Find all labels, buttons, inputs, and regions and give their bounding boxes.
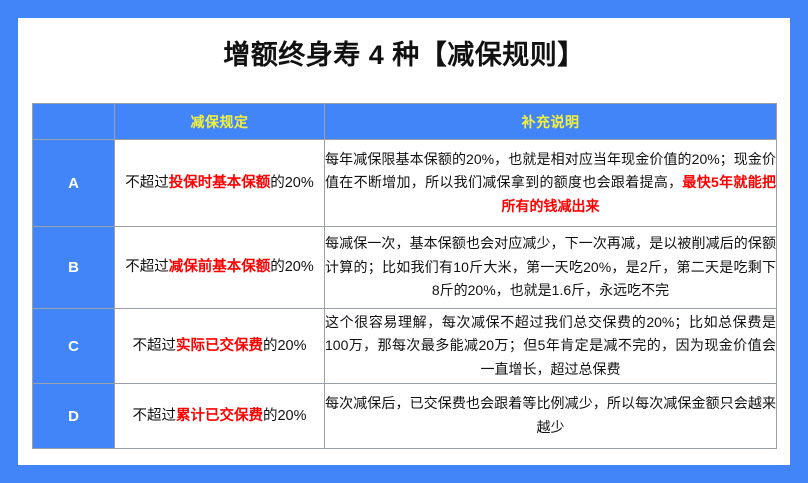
row-note-d: 每次减保后，已交保费也会跟着等比例减少，所以每次减保金额只会越来越少 bbox=[325, 384, 777, 449]
row-note-c: 这个很容易理解，每次减保不超过我们总交保费的20%；比如总保费是100万，那每次… bbox=[325, 309, 777, 384]
rule-highlight: 累计已交保费 bbox=[176, 408, 263, 424]
header-rule: 减保规定 bbox=[115, 104, 325, 140]
table-row: D 不超过累计已交保费的20% 每次减保后，已交保费也会跟着等比例减少，所以每次… bbox=[33, 384, 777, 449]
rule-highlight: 投保时基本保额 bbox=[169, 175, 271, 191]
header-letter bbox=[33, 104, 115, 140]
page-title: 增额终身寿 4 种【减保规则】 bbox=[18, 18, 790, 71]
rule-suffix: 的20% bbox=[263, 408, 307, 424]
reduction-rules-table: 减保规定 补充说明 A 不超过投保时基本保额的20% 每年减保限基本保额的20%… bbox=[32, 103, 777, 449]
row-rule-a: 不超过投保时基本保额的20% bbox=[115, 140, 325, 227]
row-note-a: 每年减保限基本保额的20%，也就是相对应当年现金价值的20%；现金价值在不断增加… bbox=[325, 140, 777, 227]
table-row: C 不超过实际已交保费的20% 这个很容易理解，每次减保不超过我们总交保费的20… bbox=[33, 309, 777, 384]
content-frame: 增额终身寿 4 种【减保规则】 减保规定 补充说明 A 不超过投保时基本保额的2… bbox=[18, 18, 790, 465]
row-letter-b: B bbox=[33, 227, 115, 309]
row-rule-b: 不超过减保前基本保额的20% bbox=[115, 227, 325, 309]
rule-suffix: 的20% bbox=[263, 338, 307, 354]
rule-highlight: 减保前基本保额 bbox=[169, 259, 271, 275]
table-header-row: 减保规定 补充说明 bbox=[33, 104, 777, 140]
note-plain: 这个很容易理解，每次减保不超过我们总交保费的20%；比如总保费是100万，那每次… bbox=[325, 314, 776, 377]
header-note: 补充说明 bbox=[325, 104, 777, 140]
table-row: A 不超过投保时基本保额的20% 每年减保限基本保额的20%，也就是相对应当年现… bbox=[33, 140, 777, 227]
rules-table-container: 减保规定 补充说明 A 不超过投保时基本保额的20% 每年减保限基本保额的20%… bbox=[32, 103, 776, 449]
row-rule-c: 不超过实际已交保费的20% bbox=[115, 309, 325, 384]
note-plain: 每减保一次，基本保额也会对应减少，下一次再减，是以被削减后的保额计算的；比如我们… bbox=[325, 235, 776, 298]
row-letter-a: A bbox=[33, 140, 115, 227]
row-note-b: 每减保一次，基本保额也会对应减少，下一次再减，是以被削减后的保额计算的；比如我们… bbox=[325, 227, 777, 309]
rule-suffix: 的20% bbox=[270, 175, 314, 191]
table-row: B 不超过减保前基本保额的20% 每减保一次，基本保额也会对应减少，下一次再减，… bbox=[33, 227, 777, 309]
row-letter-c: C bbox=[33, 309, 115, 384]
row-rule-d: 不超过累计已交保费的20% bbox=[115, 384, 325, 449]
rule-prefix: 不超过 bbox=[125, 175, 169, 191]
note-plain: 每次减保后，已交保费也会跟着等比例减少，所以每次减保金额只会越来越少 bbox=[325, 395, 776, 435]
row-letter-d: D bbox=[33, 384, 115, 449]
rule-suffix: 的20% bbox=[270, 259, 314, 275]
rule-prefix: 不超过 bbox=[125, 259, 169, 275]
rule-highlight: 实际已交保费 bbox=[176, 338, 263, 354]
rule-prefix: 不超过 bbox=[132, 338, 176, 354]
rule-prefix: 不超过 bbox=[132, 408, 176, 424]
